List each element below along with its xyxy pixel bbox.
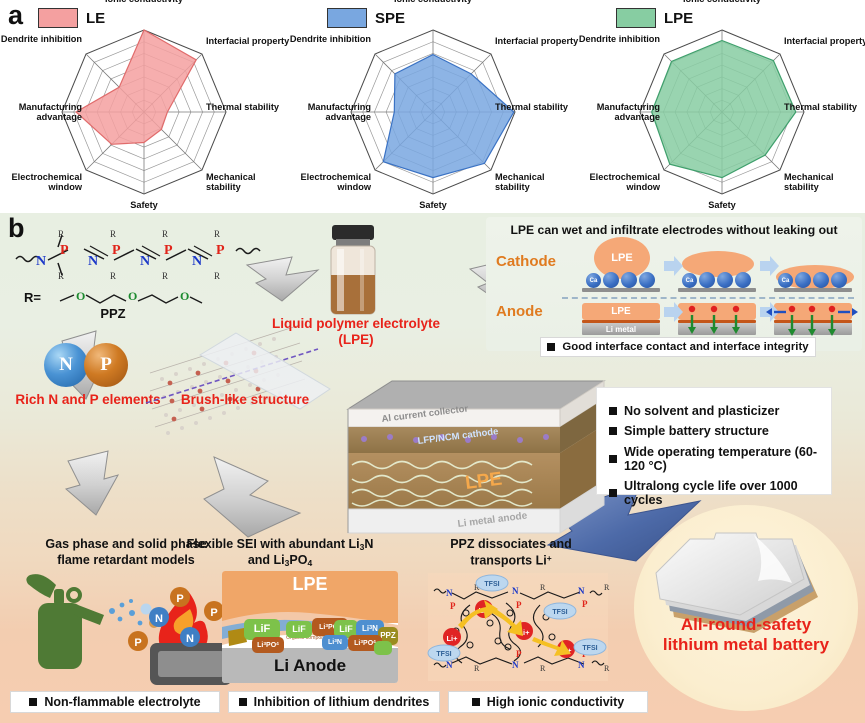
svg-text:Li+: Li+ [518, 628, 530, 637]
svg-text:LFP/NCM cathode: LFP/NCM cathode [417, 426, 499, 447]
svg-text:R: R [474, 664, 480, 673]
radar-axis-label: Manufacturing advantage [0, 102, 82, 123]
cathode-particle [813, 272, 829, 288]
svg-text:P: P [450, 649, 456, 659]
advantage-item: Wide operating temperature (60-120 °C) [609, 445, 819, 473]
sei-title-line1: Flexible SEI with abundant Li3N [152, 537, 408, 552]
svg-text:N: N [140, 254, 150, 269]
svg-text:N: N [578, 660, 585, 670]
cathode-particle [699, 272, 715, 288]
svg-text:N: N [36, 254, 46, 269]
radar-axis-label: Dendrite inhibition [574, 34, 660, 44]
cathode-particle [795, 272, 811, 288]
radar-axis-label: Dendrite inhibition [0, 34, 82, 44]
flame-footer-text: Non-flammable electrolyte [44, 695, 200, 709]
bullet-square [547, 343, 555, 351]
radar-axis-label: Interfacial property [495, 36, 581, 46]
sei-title2-end: PO [289, 553, 307, 567]
anode-lpe-3 [774, 303, 852, 320]
svg-text:N: N [578, 586, 585, 596]
cathode-label: Cathode [496, 253, 556, 270]
svg-text:R: R [604, 664, 610, 673]
inset-title: LPE can wet and infiltrate electrodes wi… [486, 223, 862, 237]
cathode-particle-labeled-1: Ca [586, 273, 601, 288]
svg-text:P: P [582, 599, 588, 609]
li-metal-3 [774, 323, 852, 335]
svg-text:P: P [516, 649, 522, 659]
svg-text:N: N [512, 586, 519, 596]
panel-b-letter: b [8, 215, 25, 242]
anode-lpe-1: LPE [582, 303, 660, 320]
cathode-particle-labeled-3: Ca [778, 273, 793, 288]
radar-axis-label: Safety [390, 200, 476, 210]
radar-axis-label: Thermal stability [206, 102, 292, 112]
radar-axis-label: Ionic conductivity [390, 0, 476, 4]
sei-chip-lif-2: LiF [286, 621, 312, 638]
svg-text:P: P [582, 649, 588, 659]
legend-label: LPE [664, 10, 693, 27]
svg-text:Li+: Li+ [560, 646, 572, 655]
bullet-square [609, 455, 617, 463]
legend-swatch [38, 8, 78, 28]
radar-series-le [76, 30, 196, 144]
anode-label: Anode [496, 303, 543, 320]
radar-axis-label: Safety [679, 200, 765, 210]
cathode-particle [735, 272, 751, 288]
svg-text:N: N [446, 588, 453, 598]
svg-text:O: O [180, 289, 189, 303]
svg-text:R: R [58, 229, 64, 239]
advantage-text: No solvent and plasticizer [624, 404, 779, 418]
radar-axis-label: Manufacturing advantage [285, 102, 371, 123]
legend-le: LE [38, 8, 105, 28]
advantage-item: Simple battery structure [609, 424, 819, 438]
advantage-text: Wide operating temperature (60-120 °C) [624, 445, 819, 473]
svg-text:N: N [512, 660, 519, 670]
vial-caption-line1: Liquid polymer electrolyte [268, 316, 444, 332]
legend-label: SPE [375, 10, 405, 27]
sei-chip-lif-4 [374, 641, 392, 655]
svg-text:O: O [128, 289, 137, 303]
battery-photo-callout: All-round-safety lithium metal battery [634, 505, 858, 711]
advantage-item: Ultralong cycle life over 1000 cycles [609, 479, 819, 507]
sei-sub3: 4 [307, 558, 312, 568]
li-metal-1: Li metal [582, 323, 660, 335]
svg-text:R: R [58, 271, 64, 281]
sei-title-end: N [364, 537, 373, 551]
svg-text:TFSI: TFSI [436, 651, 451, 658]
svg-text:R: R [162, 229, 168, 239]
svg-text:R: R [214, 229, 220, 239]
legend-swatch [616, 8, 656, 28]
svg-text:R: R [162, 271, 168, 281]
svg-text:P: P [516, 600, 522, 610]
svg-text:TFSI: TFSI [582, 645, 597, 652]
legend-label: LE [86, 10, 105, 27]
photo-title-line2: lithium metal battery [634, 635, 858, 655]
svg-text:P: P [164, 243, 173, 258]
svg-text:Li+: Li+ [478, 606, 490, 615]
flame-footer-box: Non-flammable electrolyte [10, 691, 220, 713]
vial-caption-line2: (LPE) [268, 332, 444, 348]
svg-text:P: P [210, 607, 217, 619]
cathode-particle [831, 272, 847, 288]
sei-footer-text: Inhibition of lithium dendrites [254, 695, 430, 709]
bullet-square [609, 489, 617, 497]
radar-axis-label: Electrochemical window [574, 172, 660, 193]
svg-text:LPE: LPE [464, 469, 503, 494]
svg-text:P: P [216, 243, 225, 258]
radar-axis-label: Safety [101, 200, 187, 210]
radar-axis-label: Ionic conductivity [101, 0, 187, 4]
sei-title2-start: and Li [248, 553, 285, 567]
svg-text:R: R [540, 583, 546, 592]
svg-text:Li+: Li+ [446, 634, 458, 643]
radar-chart-spe: SPEIonic conductivityInterfacial propert… [289, 0, 577, 213]
panel-b-schematic: b [0, 213, 865, 723]
svg-text:P: P [134, 637, 141, 649]
bullet-square [239, 698, 247, 706]
sei-title-text: Flexible SEI with abundant Li [187, 537, 360, 551]
svg-text:R: R [540, 664, 546, 673]
svg-text:N: N [446, 660, 453, 670]
radar-axis-label: Mechanical stability [206, 172, 292, 193]
legend-spe: SPE [327, 8, 405, 28]
panel-a-radar-charts: a LEIonic conductivityInterfacial proper… [0, 0, 865, 213]
svg-text:N: N [155, 613, 163, 625]
pouch-cell-photo [634, 505, 858, 711]
transport-title-line2: transports Li+ [406, 553, 616, 569]
anode-lpe-2 [678, 303, 756, 320]
li-metal-2 [678, 323, 756, 335]
svg-text:P: P [450, 601, 456, 611]
svg-text:P: P [176, 593, 183, 605]
svg-text:P: P [60, 243, 69, 258]
transport-sup: + [547, 553, 552, 563]
svg-text:R=: R= [24, 290, 41, 305]
svg-text:R: R [214, 271, 220, 281]
radar-axis-label: Ionic conductivity [679, 0, 765, 4]
radar-axis-label: Electrochemical window [0, 172, 82, 193]
cathode-particle [717, 272, 733, 288]
advantage-item: No solvent and plasticizer [609, 404, 819, 418]
phosphorus-sphere: P [84, 343, 128, 387]
svg-text:R: R [604, 583, 610, 592]
bullet-square [609, 427, 617, 435]
radar-axis-label: Interfacial property [206, 36, 292, 46]
svg-text:TFSI: TFSI [484, 581, 499, 588]
sei-chip-li3po4-2: Li3PO4 [252, 637, 284, 653]
svg-text:N: N [88, 254, 98, 269]
svg-text:R: R [110, 271, 116, 281]
cathode-current-collector [678, 288, 756, 292]
svg-text:Li metal anode: Li metal anode [457, 510, 528, 530]
radar-axis-label: Thermal stability [495, 102, 581, 112]
advantage-text: Ultralong cycle life over 1000 cycles [624, 479, 819, 507]
ppz-label: PPZ [68, 306, 158, 322]
cathode-particle [603, 272, 619, 288]
bullet-square [609, 407, 617, 415]
inset-footer-text: Good interface contact and interface int… [562, 341, 808, 353]
transport-footer-text: High ionic conductivity [487, 695, 625, 709]
bullet-square [472, 698, 480, 706]
sei-footer-box: Inhibition of lithium dendrites [228, 691, 440, 713]
legend-lpe: LPE [616, 8, 693, 28]
svg-text:N: N [192, 254, 202, 269]
radar-chart-le: LEIonic conductivityInterfacial property… [0, 0, 288, 213]
cathode-current-collector [774, 288, 852, 292]
legend-swatch [327, 8, 367, 28]
sei-lpe-layer: LPE [222, 571, 398, 623]
svg-text:TFSI: TFSI [552, 609, 567, 616]
sei-chip-li3n-2: Li3N [322, 635, 348, 650]
cathode-particle [639, 272, 655, 288]
svg-text:R: R [110, 229, 116, 239]
wetting-inset: LPE can wet and infiltrate electrodes wi… [486, 217, 862, 351]
transport-title2-text: transports Li [470, 554, 546, 568]
cathode-particle-labeled-2: Ca [682, 273, 697, 288]
radar-axis-label: Dendrite inhibition [285, 34, 371, 44]
svg-text:R: R [474, 583, 480, 592]
radar-series-lpe [652, 41, 796, 178]
radar-axis-label: Electrochemical window [285, 172, 371, 193]
cathode-particle [621, 272, 637, 288]
radar-axis-label: Mechanical stability [495, 172, 581, 193]
radar-series-spe [383, 55, 514, 178]
advantages-list: No solvent and plasticizer Simple batter… [596, 387, 832, 495]
transport-title-line1: PPZ dissociates and [406, 537, 616, 552]
nitrogen-sphere: N [44, 343, 88, 387]
inset-footer-box: Good interface contact and interface int… [540, 337, 816, 357]
photo-title-line1: All-round-safety [634, 615, 858, 635]
svg-text:N: N [186, 633, 194, 645]
radar-axis-label: Mechanical stability [784, 172, 865, 193]
radar-axis-label: Manufacturing advantage [574, 102, 660, 123]
radar-axis-label: Interfacial property [784, 36, 865, 46]
sei-title-line2: and Li3PO4 [152, 553, 408, 568]
brush-caption: Brush-like structure [150, 392, 340, 408]
svg-text:O: O [76, 289, 85, 303]
radar-chart-lpe: LPEIonic conductivityInterfacial propert… [578, 0, 865, 213]
sei-anode-layer: Li Anode [222, 648, 398, 683]
radar-axis-label: Thermal stability [784, 102, 865, 112]
bullet-square [29, 698, 37, 706]
advantage-text: Simple battery structure [624, 424, 769, 438]
svg-text:P: P [112, 243, 121, 258]
divider [562, 297, 854, 299]
cathode-current-collector [582, 288, 660, 292]
sei-illustration: LPE Li Anode Organic components LiF LiF … [222, 571, 398, 683]
transport-footer-box: High ionic conductivity [448, 691, 648, 713]
svg-text:Al current collector: Al current collector [381, 403, 469, 425]
